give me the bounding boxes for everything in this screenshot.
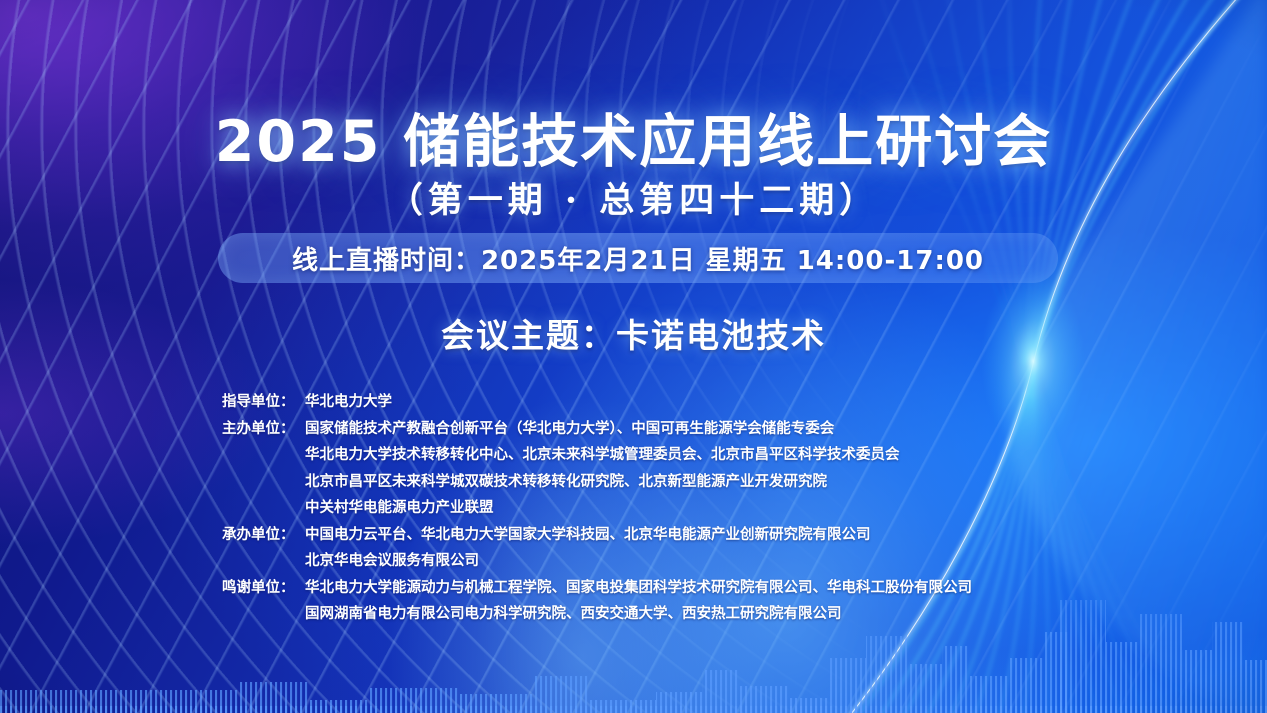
organizer-list: 指导单位： 华北电力大学 主办单位： 国家储能技术产教融合创新平台（华北电力大学… [222, 389, 1122, 628]
live-time-banner: 线上直播时间：2025年2月21日 星期五 14:00-17:00 [218, 233, 1058, 283]
organizer-value: 华北电力大学 [305, 389, 392, 416]
organizer-label: 主办单位： [222, 416, 305, 443]
organizer-label: 鸣谢单位： [222, 575, 305, 602]
organizer-row: 国网湖南省电力有限公司电力科学研究院、西安交通大学、西安热工研究院有限公司 [222, 601, 1122, 628]
organizer-label: 指导单位： [222, 389, 305, 416]
organizer-value: 华北电力大学技术转移转化中心、北京未来科学城管理委员会、北京市昌平区科学技术委员… [305, 442, 900, 469]
organizer-label: 承办单位： [222, 522, 305, 549]
organizer-row: 主办单位： 国家储能技术产教融合创新平台（华北电力大学）、中国可再生能源学会储能… [222, 416, 1122, 443]
organizer-row: 北京华电会议服务有限公司 [222, 548, 1122, 575]
live-time-text: 线上直播时间：2025年2月21日 星期五 14:00-17:00 [292, 240, 984, 277]
organizer-row: 承办单位： 中国电力云平台、华北电力大学国家大学科技园、北京华电能源产业创新研究… [222, 522, 1122, 549]
organizer-value: 中关村华电能源电力产业联盟 [305, 495, 494, 522]
organizer-row: 中关村华电能源电力产业联盟 [222, 495, 1122, 522]
organizer-row: 鸣谢单位： 华北电力大学能源动力与机械工程学院、国家电投集团科学技术研究院有限公… [222, 575, 1122, 602]
page-title: 2025 储能技术应用线上研讨会 [0, 96, 1267, 178]
conference-theme: 会议主题：卡诺电池技术 [0, 309, 1267, 357]
webinar-poster: 2025 储能技术应用线上研讨会 （第一期 · 总第四十二期） 线上直播时间：2… [0, 0, 1267, 713]
organizer-value: 国家储能技术产教融合创新平台（华北电力大学）、中国可再生能源学会储能专委会 [305, 416, 834, 443]
organizer-row: 华北电力大学技术转移转化中心、北京未来科学城管理委员会、北京市昌平区科学技术委员… [222, 442, 1122, 469]
organizer-row: 指导单位： 华北电力大学 [222, 389, 1122, 416]
poster-content: 2025 储能技术应用线上研讨会 （第一期 · 总第四十二期） 线上直播时间：2… [0, 0, 1267, 713]
organizer-value: 国网湖南省电力有限公司电力科学研究院、西安交通大学、西安热工研究院有限公司 [305, 601, 842, 628]
organizer-value: 北京市昌平区未来科学城双碳技术转移转化研究院、北京新型能源产业开发研究院 [305, 469, 827, 496]
organizer-value: 北京华电会议服务有限公司 [305, 548, 479, 575]
organizer-value: 华北电力大学能源动力与机械工程学院、国家电投集团科学技术研究院有限公司、华电科工… [305, 575, 972, 602]
organizer-row: 北京市昌平区未来科学城双碳技术转移转化研究院、北京新型能源产业开发研究院 [222, 469, 1122, 496]
page-subtitle: （第一期 · 总第四十二期） [0, 172, 1267, 223]
organizer-value: 中国电力云平台、华北电力大学国家大学科技园、北京华电能源产业创新研究院有限公司 [305, 522, 871, 549]
